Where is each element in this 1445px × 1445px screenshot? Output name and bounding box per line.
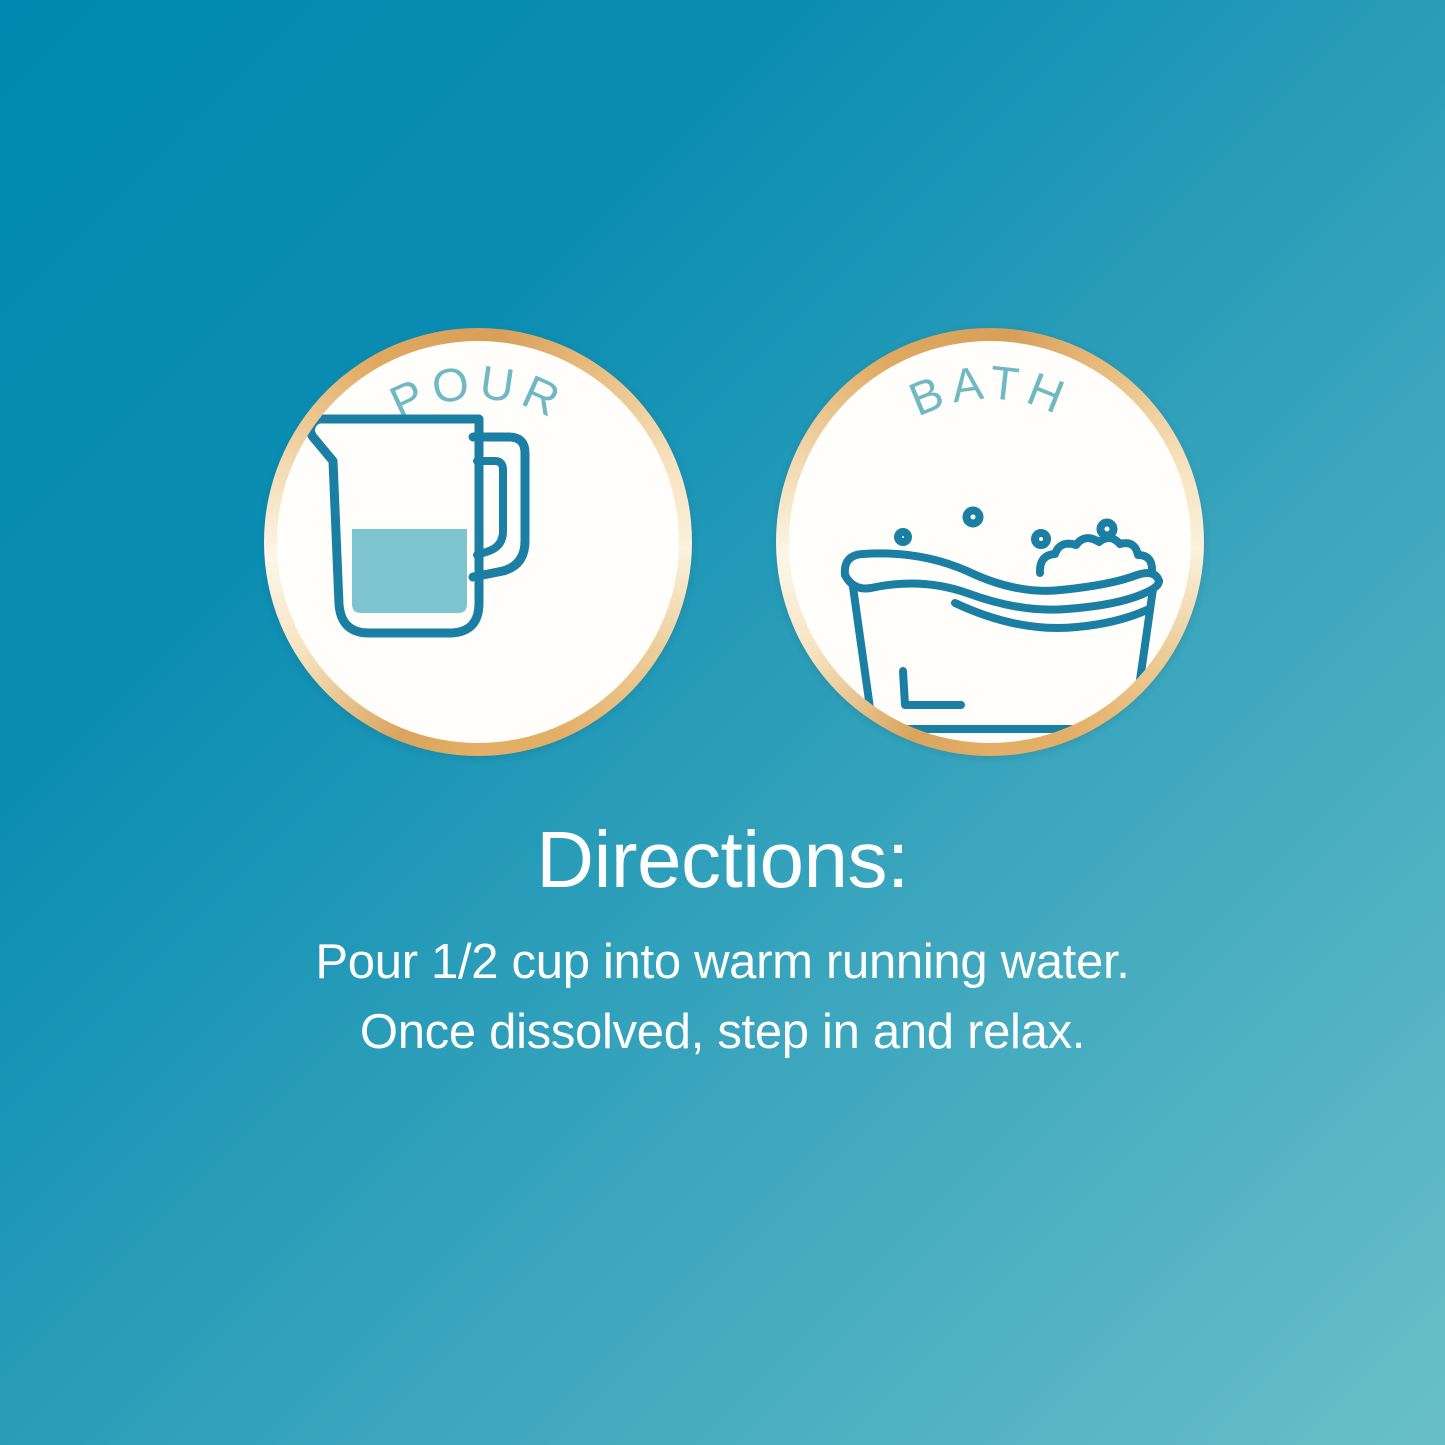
bathtub-icon: [845, 511, 1159, 744]
badge-label-bath: BATH: [902, 355, 1078, 426]
tub-body: [853, 587, 1153, 729]
measuring-cup-icon: [310, 419, 525, 633]
page-title: Directions:: [0, 820, 1445, 900]
badge-pour: POUR: [264, 328, 692, 756]
directions-line-2: Once dissolved, step in and relax.: [0, 998, 1445, 1068]
bubble-icon: [898, 532, 908, 542]
badge-label-bath-text: BATH: [902, 355, 1078, 426]
badge-bath: BATH: [776, 328, 1204, 756]
bubble-icon: [1035, 533, 1047, 545]
directions-block: Directions: Pour 1/2 cup into warm runni…: [0, 820, 1445, 1067]
directions-line-1: Pour 1/2 cup into warm running water.: [0, 928, 1445, 998]
bath-foam: [1040, 538, 1152, 573]
tub-drain-handle: [903, 671, 961, 705]
bath-badge-artwork: BATH: [789, 341, 1191, 743]
promo-panel: POUR: [0, 0, 1445, 1445]
badge-face: POUR: [277, 341, 679, 743]
badge-face: BATH: [789, 341, 1191, 743]
cup-water-fill: [352, 529, 467, 613]
bubble-icon: [1101, 523, 1114, 536]
pour-badge-artwork: POUR: [277, 341, 679, 743]
bubble-icon: [967, 511, 980, 524]
